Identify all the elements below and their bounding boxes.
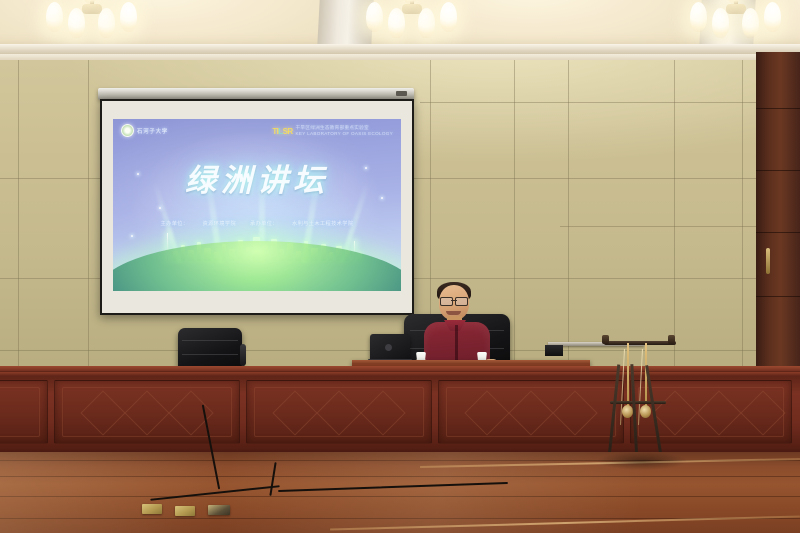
sparkle	[381, 197, 383, 199]
chandelier-bulb	[712, 8, 729, 38]
lab-logo-group: TILSR 干旱区绿洲生态教育部重点实验室 KEY LABORATORY OF …	[272, 125, 393, 137]
wall-panel-seam	[514, 60, 515, 372]
podium-panel	[246, 380, 432, 444]
lab-name-block: 干旱区绿洲生态教育部重点实验室 KEY LABORATORY OF OASIS …	[296, 125, 393, 137]
slide-header: 石河子大学 TILSR 干旱区绿洲生态教育部重点实验室 KEY LABORATO…	[113, 124, 401, 137]
wood-panel-seam	[756, 296, 800, 297]
lens-left	[440, 297, 453, 306]
wood-door-panel-right[interactable]	[756, 52, 800, 382]
podium-panel	[438, 380, 624, 444]
presentation-slide: 石河子大学 TILSR 干旱区绿洲生态教育部重点实验室 KEY LABORATO…	[113, 119, 401, 291]
sparkle	[137, 173, 139, 175]
chandelier-bulb	[120, 2, 137, 32]
floor-outlet-2[interactable]	[175, 506, 195, 516]
university-emblem-icon	[121, 124, 134, 137]
stand-peg	[602, 335, 609, 344]
wall-panel-seam	[568, 60, 569, 372]
chandelier-bulb	[98, 8, 115, 38]
wall-panel-seam	[742, 60, 743, 372]
stage-front-panel	[0, 366, 800, 458]
chandelier-bulb	[68, 8, 85, 38]
chair-armrest	[240, 344, 246, 366]
stand-shadow	[596, 452, 688, 470]
chandelier-left	[46, 0, 138, 44]
wall-panel-seam	[674, 60, 675, 372]
university-emblem-group: 石河子大学	[121, 124, 168, 137]
host-label: 主办单位：	[161, 221, 189, 227]
screen-roller-knob[interactable]	[396, 91, 407, 96]
chandelier-bulb	[418, 8, 435, 38]
laptop-logo-icon	[385, 344, 392, 351]
chair-seam	[182, 340, 238, 341]
podium-panel	[0, 380, 48, 444]
chandelier-bulb	[690, 2, 707, 32]
lab-wordmark: TILSR	[272, 127, 292, 136]
university-name: 石河子大学	[137, 127, 168, 135]
erhu-instrument-left[interactable]	[626, 343, 630, 427]
chandelier-right	[690, 0, 782, 44]
chandelier-bulb	[742, 8, 759, 38]
host-value: 资源环境学院	[203, 221, 237, 227]
podium-rail	[0, 372, 800, 376]
door-handle[interactable]	[766, 248, 770, 274]
speaker-mouth	[446, 311, 461, 315]
ceiling	[0, 0, 800, 62]
stand-peg	[668, 335, 675, 344]
chandelier-bulb	[440, 2, 457, 32]
chandelier-bulb	[764, 2, 781, 32]
chair-left[interactable]	[178, 328, 242, 370]
chandelier-bulb	[46, 2, 63, 32]
wall-panel-seam	[420, 102, 800, 103]
sparkle	[159, 207, 161, 209]
slide-title: 绿洲讲坛	[113, 155, 401, 200]
wood-panel-seam	[756, 232, 800, 233]
chandelier-bulb	[388, 8, 405, 38]
podium-top-edge	[0, 366, 800, 371]
table-edge	[352, 360, 590, 364]
stand-crossbar-lower	[610, 401, 666, 404]
wood-panel-seam	[756, 108, 800, 109]
lab-name-en: KEY LABORATORY OF OASIS ECOLOGY	[296, 131, 393, 137]
chandelier-bulb	[366, 2, 383, 32]
microphone-mount-box	[545, 345, 563, 356]
wall-panel-seam	[18, 60, 19, 372]
instrument-stand[interactable]	[600, 327, 680, 472]
floor-outlet-1[interactable]	[142, 504, 162, 514]
sparkle	[365, 167, 367, 169]
eyeglasses-icon	[440, 297, 468, 304]
wall-panel-seam	[88, 60, 89, 372]
lecture-hall-photo: 石河子大学 TILSR 干旱区绿洲生态教育部重点实验室 KEY LABORATO…	[0, 0, 800, 533]
glasses-bridge	[451, 300, 457, 301]
erhu-neck	[627, 343, 629, 409]
erhu-resonator	[640, 405, 651, 418]
erhu-resonator	[622, 405, 633, 418]
podium-panel	[54, 380, 240, 444]
floor-outlet-3[interactable]	[208, 505, 230, 515]
chandelier-center	[366, 0, 458, 44]
slide-subtitle: 主办单位：资源环境学院承办单位：水利与土木工程技术学院	[113, 220, 401, 227]
podium-panel-inner	[0, 387, 40, 437]
organizer-value: 水利与土木工程技术学院	[292, 221, 353, 227]
chair-seam	[182, 354, 238, 355]
lens-right	[455, 297, 468, 306]
organizer-label: 承办单位：	[250, 221, 278, 227]
projection-screen[interactable]: 石河子大学 TILSR 干旱区绿洲生态教育部重点实验室 KEY LABORATO…	[100, 99, 414, 315]
stand-crossbar-upper	[604, 341, 676, 345]
wood-panel-seam	[756, 170, 800, 171]
